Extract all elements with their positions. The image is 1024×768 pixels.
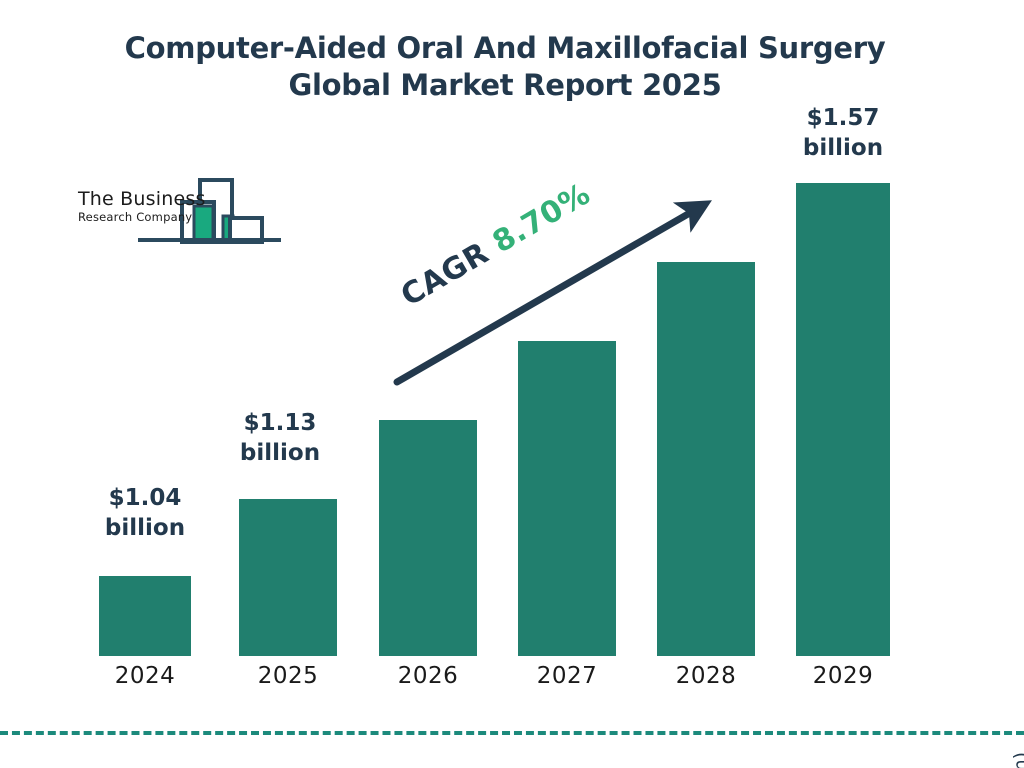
chart-title: Computer-Aided Oral And Maxillofacial Su… xyxy=(0,30,1010,104)
bar-2028[interactable] xyxy=(657,262,755,656)
cagr-value: 8.70% xyxy=(487,176,597,260)
bar-2029[interactable] xyxy=(796,183,890,656)
logo-name-line1: The Business xyxy=(78,190,208,210)
x-tick-2028: 2028 xyxy=(646,663,766,689)
bar-2024[interactable] xyxy=(99,576,191,656)
logo-name-line2: Research Company xyxy=(78,211,208,225)
x-tick-2029: 2029 xyxy=(783,663,903,689)
bar-label-2024: $1.04 billion xyxy=(65,483,225,544)
footer-divider xyxy=(0,731,1024,735)
y-axis-title: Market Size (in USD billion) xyxy=(1010,670,1024,768)
x-tick-2026: 2026 xyxy=(368,663,488,689)
bar-2026[interactable] xyxy=(379,420,477,656)
company-logo: The Business Research Company xyxy=(78,176,283,248)
bar-2025[interactable] xyxy=(239,499,337,656)
x-tick-2024: 2024 xyxy=(85,663,205,689)
x-tick-2025: 2025 xyxy=(228,663,348,689)
cagr-annotation: CAGR 8.70% xyxy=(395,176,596,313)
bar-label-2029: $1.57 billion xyxy=(763,103,923,164)
logo-wordmark: The Business Research Company xyxy=(78,190,208,225)
cagr-label: CAGR xyxy=(395,236,495,314)
bar-2027[interactable] xyxy=(518,341,616,656)
x-tick-2027: 2027 xyxy=(507,663,627,689)
chart-canvas: Computer-Aided Oral And Maxillofacial Su… xyxy=(0,0,1024,768)
bar-label-2025: $1.13 billion xyxy=(200,408,360,469)
